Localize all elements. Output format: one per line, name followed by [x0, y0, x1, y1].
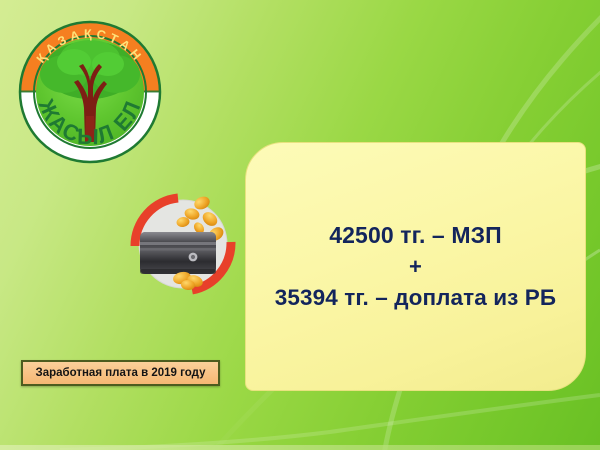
panel-line-1: 42500 тг. – МЗП: [252, 219, 579, 252]
wallet-with-coins-icon: [126, 186, 240, 300]
slide-canvas: ҚАЗАҚСТАН ЖАСЫЛ ЕЛ: [0, 0, 600, 450]
info-panel: 42500 тг. – МЗП + 35394 тг. – доплата из…: [245, 142, 586, 391]
wallet-svg: [126, 186, 240, 300]
panel-text-block: 42500 тг. – МЗП + 35394 тг. – доплата из…: [246, 219, 585, 315]
panel-line-plus: +: [252, 251, 579, 282]
organization-logo: ҚАЗАҚСТАН ЖАСЫЛ ЕЛ: [14, 12, 166, 164]
bottom-edge-strip: [0, 445, 600, 450]
caption-label: Заработная плата в 2019 году: [35, 367, 205, 379]
caption-chip: Заработная плата в 2019 году: [21, 360, 220, 386]
logo-svg: ҚАЗАҚСТАН ЖАСЫЛ ЕЛ: [14, 12, 166, 164]
wallet-body: [140, 232, 216, 274]
panel-line-3: 35394 тг. – доплата из РБ: [252, 282, 579, 314]
